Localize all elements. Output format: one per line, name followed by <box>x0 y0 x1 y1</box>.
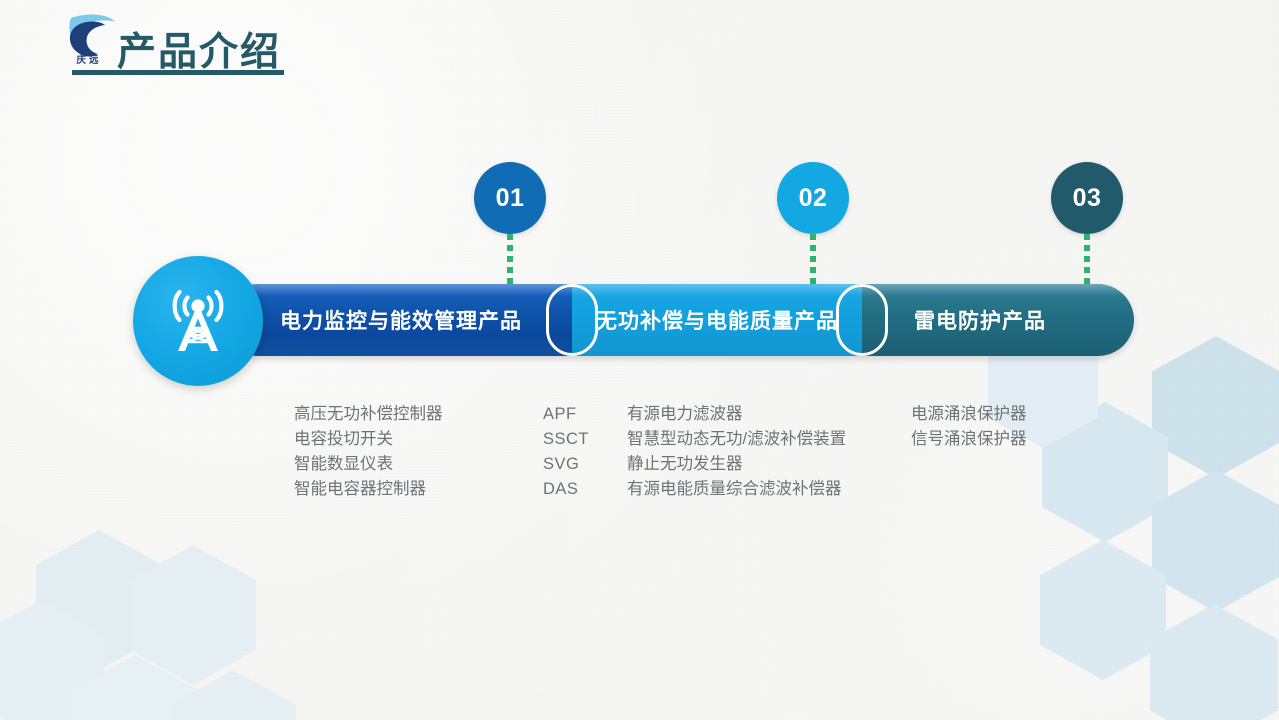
list-item: 电容投切开关 <box>294 427 443 452</box>
list-item: 有源电能质量综合滤波补偿器 <box>627 477 846 502</box>
list-item: 智能电容器控制器 <box>294 477 443 502</box>
connector-dotted-line-01 <box>507 234 513 286</box>
banner-segment-power-monitoring[interactable]: 电力监控与能效管理产品 <box>222 284 572 356</box>
page-title: 产品介绍 <box>117 21 281 77</box>
hexagon-shape <box>1040 540 1166 680</box>
list-item: 智慧型动态无功/滤波补偿装置 <box>627 427 846 452</box>
banner-segment-label: 电力监控与能效管理产品 <box>280 305 522 335</box>
product-list-column-2-abbreviations: APF SSCT SVG DAS <box>543 402 589 502</box>
banner-segment-reactive-compensation[interactable]: 无功补偿与电能质量产品 <box>572 284 862 356</box>
product-list-column-4: 电源涌浪保护器 信号涌浪保护器 <box>911 402 1027 452</box>
banner-segment-label: 雷电防护产品 <box>914 305 1046 335</box>
connector-dotted-line-02 <box>810 234 816 286</box>
list-item: 静止无功发生器 <box>627 452 846 477</box>
badge-number: 01 <box>496 184 525 213</box>
list-item: 有源电力滤波器 <box>627 402 846 427</box>
list-item: DAS <box>543 477 589 502</box>
step-badge-01[interactable]: 01 <box>474 162 546 234</box>
hexagon-shape <box>1152 336 1279 478</box>
list-item: 电源涌浪保护器 <box>911 402 1027 427</box>
segment-sheen <box>862 284 1134 296</box>
list-item: 智能数显仪表 <box>294 452 443 477</box>
slide-header: 庆远 产品介绍 <box>0 0 1279 92</box>
product-list-column-3: 有源电力滤波器 智慧型动态无功/滤波补偿装置 静止无功发生器 有源电能质量综合滤… <box>627 402 846 502</box>
list-item: SVG <box>543 452 589 477</box>
list-item: 信号涌浪保护器 <box>911 427 1027 452</box>
step-badge-02[interactable]: 02 <box>777 162 849 234</box>
list-item: APF <box>543 402 589 427</box>
banner-segment-lightning-protection[interactable]: 雷电防护产品 <box>862 284 1134 356</box>
list-item: SSCT <box>543 427 589 452</box>
badge-number: 03 <box>1073 184 1102 213</box>
segment-sheen <box>222 284 572 296</box>
segment-sheen <box>572 284 862 296</box>
hexagon-shape <box>1150 604 1278 720</box>
list-item: 高压无功补偿控制器 <box>294 402 443 427</box>
category-banner-bar: 电力监控与能效管理产品 无功补偿与电能质量产品 雷电防护产品 <box>222 284 1134 356</box>
product-list-column-1: 高压无功补偿控制器 电容投切开关 智能数显仪表 智能电容器控制器 <box>294 402 443 502</box>
broadcast-tower-icon <box>133 256 263 386</box>
badge-number: 02 <box>799 184 828 213</box>
step-badge-03[interactable]: 03 <box>1051 162 1123 234</box>
banner-segment-label: 无功补偿与电能质量产品 <box>596 305 838 335</box>
hexagon-shape <box>1152 470 1279 612</box>
slide-canvas: 庆远 产品介绍 01 02 03 电力监控与能效管理产品 无功补偿与电能质量产品… <box>0 0 1279 720</box>
connector-dotted-line-03 <box>1084 234 1090 286</box>
logo-caption: 庆远 <box>57 52 121 66</box>
